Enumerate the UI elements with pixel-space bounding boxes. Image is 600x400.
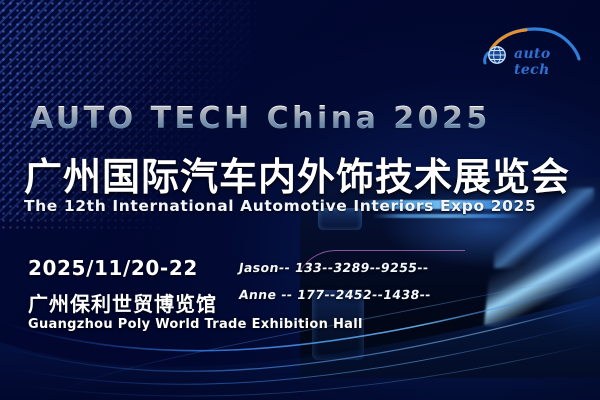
- headline-subtitle: The 12th International Automotive Interi…: [24, 197, 536, 215]
- headline-english: AUTO TECH China 2025: [30, 101, 491, 136]
- venue-name-chinese: 广州保利世贸博览馆: [28, 288, 217, 317]
- venue-name-english: Guangzhou Poly World Trade Exhibition Ha…: [28, 317, 363, 332]
- event-poster: auto tech AUTO TECH China 2025 广州国际汽车内外饰…: [0, 0, 600, 400]
- contact-line-jason: Jason-- 133--3289--9255--: [238, 260, 430, 275]
- headline-chinese: 广州国际汽车内外饰技术展览会: [24, 146, 570, 201]
- event-date: 2025/11/20-22: [28, 256, 198, 280]
- contact-line-anne: Anne -- 177--2452--1438--: [238, 287, 432, 302]
- poster-content: AUTO TECH China 2025 广州国际汽车内外饰技术展览会 The …: [0, 0, 600, 400]
